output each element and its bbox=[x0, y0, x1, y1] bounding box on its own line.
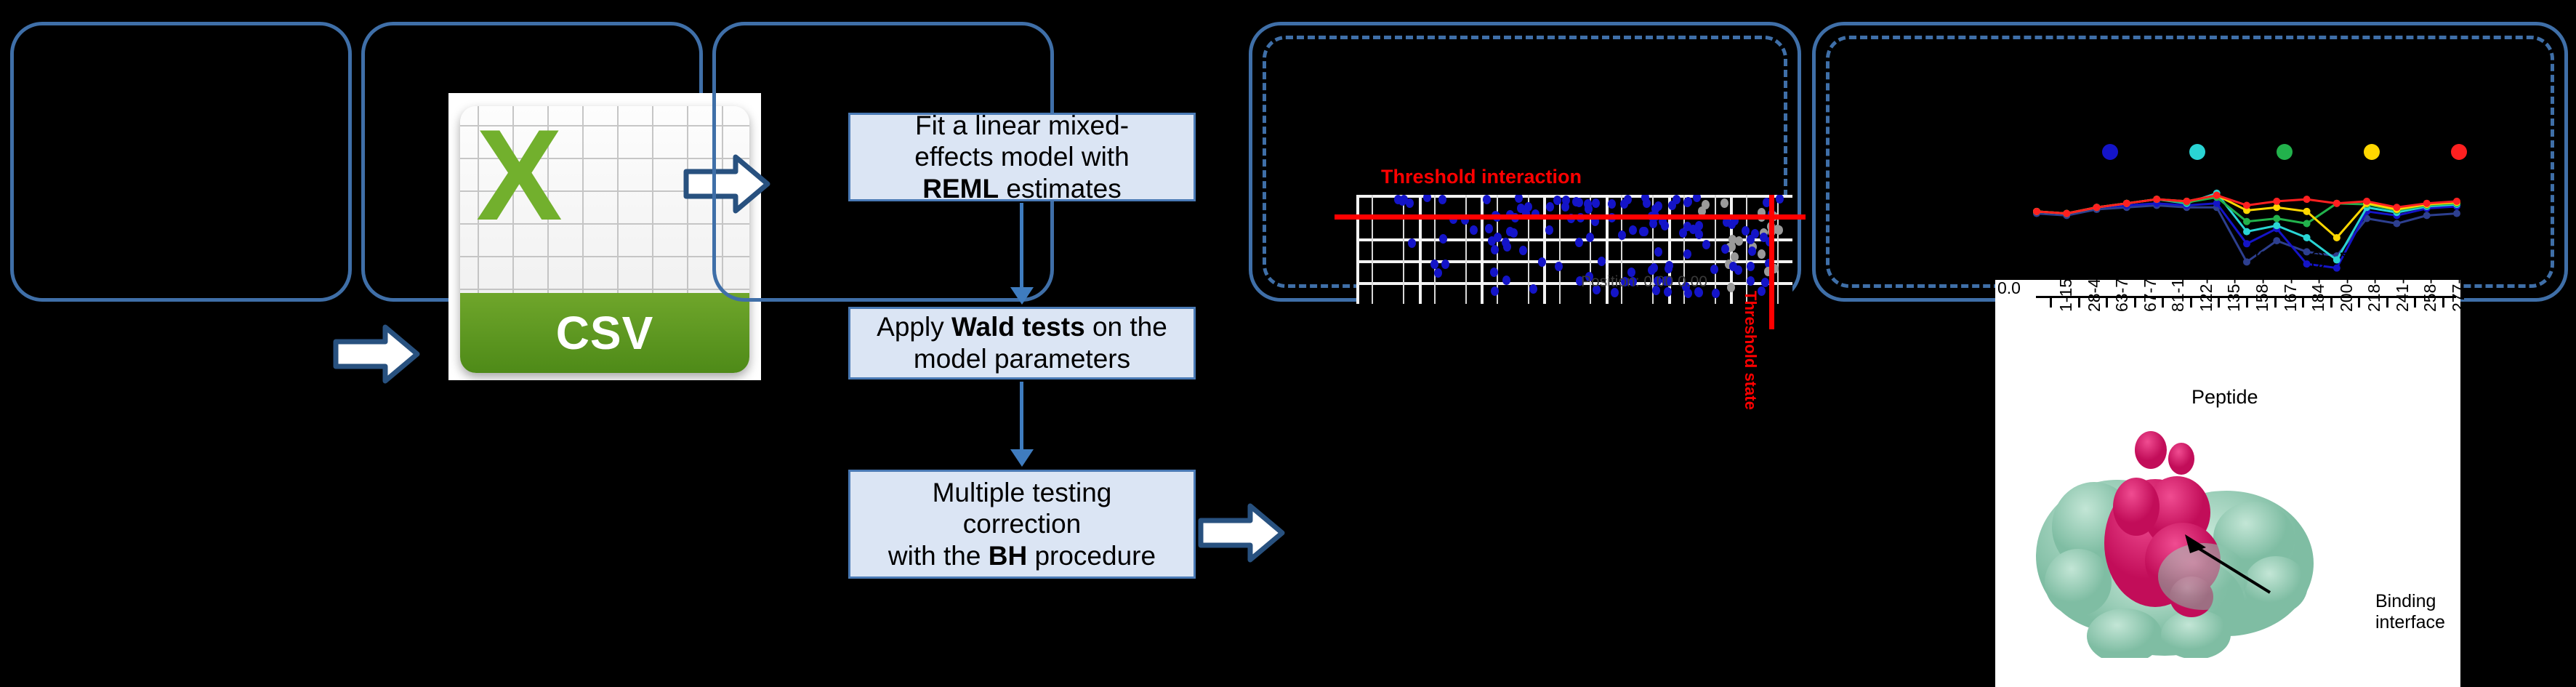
line-marker bbox=[2153, 196, 2160, 203]
line-marker bbox=[2273, 198, 2280, 205]
peptide-tick-label: 28-44 bbox=[2085, 269, 2104, 312]
line-marker bbox=[2423, 212, 2431, 219]
legend-dot-4 bbox=[2451, 144, 2467, 160]
connector-arrow-reml-to-wald bbox=[1020, 203, 1023, 289]
scatter-point bbox=[1643, 198, 1651, 208]
scatter-point bbox=[1695, 221, 1703, 230]
flow-arrow-3 bbox=[1198, 500, 1285, 566]
peptide-tick bbox=[2358, 296, 2360, 308]
peptide-tick bbox=[2302, 296, 2304, 308]
binding-line-2: interface bbox=[2375, 612, 2445, 633]
scatter-tick-v bbox=[1559, 195, 1561, 304]
threshold-state-line bbox=[1769, 195, 1774, 329]
peptide-tick-label: 241-257 bbox=[2393, 251, 2412, 312]
scatter-point bbox=[1665, 261, 1673, 270]
scatter-point bbox=[1654, 201, 1662, 211]
line-marker bbox=[2183, 198, 2190, 205]
scatter-point bbox=[1483, 195, 1491, 204]
scatter-point bbox=[1439, 234, 1447, 244]
scatter-point bbox=[1776, 195, 1784, 204]
scatter-tick-v bbox=[1746, 195, 1747, 304]
peptide-tick bbox=[2386, 296, 2388, 308]
scatter-point bbox=[1491, 245, 1499, 254]
peptide-axis-title: Peptide bbox=[2191, 386, 2258, 409]
scatter-point bbox=[1575, 198, 1583, 207]
scatter-point bbox=[1742, 226, 1750, 236]
scatter-point bbox=[1608, 199, 1616, 209]
scatter-point bbox=[1515, 195, 1523, 203]
scatter-point bbox=[1710, 265, 1718, 274]
scatter-point bbox=[1758, 249, 1766, 259]
scatter-point bbox=[1624, 195, 1632, 204]
line-marker bbox=[2303, 208, 2311, 215]
peptide-tick-label: 67-75 bbox=[2141, 269, 2160, 312]
peptide-tick-label: 158-166 bbox=[2253, 251, 2272, 312]
scatter-point bbox=[1441, 260, 1449, 269]
scatter-point bbox=[1434, 268, 1442, 278]
peptide-tick bbox=[2050, 296, 2052, 308]
peptide-tick-label: 135-144 bbox=[2224, 251, 2244, 312]
threshold-interaction-line bbox=[1335, 214, 1806, 220]
peptide-tick bbox=[2330, 296, 2333, 308]
line-marker bbox=[2393, 220, 2400, 228]
line-marker bbox=[2273, 237, 2280, 244]
scatter-faint-axis-text: Position: 0.00 0.00 bbox=[1581, 273, 1707, 291]
scatter-point bbox=[1721, 244, 1729, 254]
line-marker bbox=[2453, 210, 2460, 217]
scatter-point bbox=[1641, 227, 1649, 236]
scatter-point bbox=[1470, 225, 1478, 235]
peptide-tick-label: 200-214 bbox=[2337, 251, 2356, 312]
line-marker bbox=[2243, 218, 2250, 225]
wald-keyword: Wald tests bbox=[951, 312, 1085, 342]
line-marker bbox=[2243, 201, 2250, 209]
scatter-plot-area bbox=[1356, 195, 1792, 304]
peptide-tick bbox=[2106, 296, 2108, 308]
scatter-point bbox=[1430, 260, 1438, 269]
diagram-stage: X CSV Fit a linear mixed- effects model … bbox=[0, 0, 2576, 687]
scatter-point bbox=[1748, 246, 1756, 256]
line-marker bbox=[2273, 215, 2280, 222]
reml-line-3: estimates bbox=[999, 174, 1122, 204]
line-marker bbox=[2453, 198, 2460, 205]
peptide-tick bbox=[2078, 296, 2080, 308]
scatter-point bbox=[1747, 262, 1755, 271]
line-marker bbox=[2423, 200, 2431, 207]
line-marker bbox=[2273, 222, 2280, 229]
scatter-tick-v bbox=[1465, 195, 1467, 304]
connector-arrow-wald-to-bh bbox=[1020, 382, 1023, 451]
scatter-point bbox=[1584, 199, 1592, 209]
scatter-point bbox=[1519, 246, 1527, 255]
legend-dot-2 bbox=[2277, 144, 2293, 160]
line-marker bbox=[2243, 228, 2250, 236]
scatter-point bbox=[1702, 200, 1710, 209]
scatter-point bbox=[1408, 238, 1416, 248]
threshold-state-label: Threshold state bbox=[1741, 291, 1760, 410]
scatter-tick-v bbox=[1434, 195, 1436, 304]
reml-line-2: effects model with bbox=[914, 142, 1129, 172]
scatter-point bbox=[1398, 196, 1406, 206]
line-marker bbox=[2123, 200, 2130, 207]
peptide-tick-label: 63-73 bbox=[2112, 269, 2132, 312]
peptide-tick bbox=[2414, 296, 2416, 308]
line-marker bbox=[2303, 196, 2311, 203]
bh-keyword: BH bbox=[989, 541, 1027, 571]
scatter-point bbox=[1592, 198, 1600, 208]
line-marker bbox=[2363, 198, 2370, 205]
step-box-bh: Multiple testing correction with the BH … bbox=[848, 470, 1196, 579]
line-marker bbox=[2243, 240, 2250, 247]
scatter-point bbox=[1546, 202, 1554, 212]
legend-dot-3 bbox=[2364, 144, 2380, 160]
peptide-tick bbox=[2134, 296, 2136, 308]
line-marker bbox=[2093, 204, 2101, 211]
scatter-point bbox=[1553, 196, 1561, 205]
bh-post: procedure bbox=[1027, 541, 1156, 571]
peptide-tick bbox=[2218, 296, 2220, 308]
peptide-tick-label: 184-199 bbox=[2309, 251, 2328, 312]
bh-line-2: correction bbox=[963, 509, 1081, 539]
line-marker bbox=[2243, 258, 2250, 265]
step-box-reml: Fit a linear mixed- effects model with R… bbox=[848, 113, 1196, 201]
scatter-tick-v bbox=[1372, 195, 1373, 304]
panel-input bbox=[10, 22, 352, 302]
scatter-point bbox=[1503, 242, 1511, 252]
scatter-point bbox=[1575, 238, 1583, 247]
scatter-point bbox=[1586, 233, 1594, 242]
scatter-point bbox=[1494, 233, 1502, 242]
line-marker bbox=[2033, 208, 2040, 215]
flow-arrow-1 bbox=[333, 321, 420, 387]
scatter-point bbox=[1702, 240, 1710, 249]
line-marker bbox=[2303, 234, 2311, 241]
scatter-point bbox=[1555, 262, 1563, 271]
scatter-point bbox=[1684, 197, 1692, 206]
peptide-tick-label: 81-101 bbox=[2168, 260, 2188, 312]
scatter-tick-v bbox=[1403, 195, 1404, 304]
scatter-point bbox=[1735, 236, 1743, 246]
bh-line-1: Multiple testing bbox=[933, 478, 1112, 507]
reml-keyword: REML bbox=[922, 174, 999, 204]
scatter-gridline-v bbox=[1419, 195, 1422, 304]
peptide-tick bbox=[2162, 296, 2164, 308]
scatter-point bbox=[1529, 284, 1537, 294]
peptide-tick-label: 218-237 bbox=[2364, 251, 2384, 312]
binding-line-1: Binding bbox=[2375, 591, 2445, 612]
scatter-point bbox=[1538, 257, 1546, 267]
scatter-title: Threshold interaction bbox=[1381, 166, 1582, 188]
scatter-point bbox=[1729, 262, 1737, 271]
peptide-axis-card: 0.0 1-1528-4463-7367-7581-101122-129135-… bbox=[1995, 280, 2460, 687]
line-marker bbox=[2213, 192, 2221, 199]
scatter-point bbox=[1438, 195, 1446, 204]
peptide-tick-label: 122-129 bbox=[2197, 251, 2216, 312]
scatter-gridline-v bbox=[1481, 195, 1484, 304]
peptide-tick-label: 167-180 bbox=[2281, 251, 2301, 312]
y-axis-tick-label: 0.0 bbox=[1997, 278, 2021, 298]
scatter-point bbox=[1485, 224, 1493, 233]
scatter-gridline-v bbox=[1543, 195, 1546, 304]
line-marker bbox=[2393, 204, 2400, 211]
line-marker bbox=[2333, 234, 2340, 241]
peptide-tick bbox=[2190, 296, 2192, 308]
peptide-tick bbox=[2246, 296, 2248, 308]
scatter-point bbox=[1490, 268, 1498, 277]
step-box-wald: Apply Wald tests on the model parameters bbox=[848, 307, 1196, 379]
legend-dot-0 bbox=[2102, 144, 2118, 160]
scatter-point bbox=[1727, 283, 1735, 292]
scatter-point bbox=[1598, 257, 1606, 266]
csv-icon-label: CSV bbox=[556, 306, 654, 360]
scatter-point bbox=[1693, 195, 1701, 202]
scatter-point bbox=[1683, 249, 1691, 259]
line-marker bbox=[2303, 220, 2311, 228]
excel-x-icon: X bbox=[476, 111, 563, 240]
bh-pre: with the bbox=[888, 541, 989, 571]
peptide-tick bbox=[2442, 296, 2444, 308]
line-marker bbox=[2333, 200, 2340, 207]
scatter-point bbox=[1720, 198, 1728, 208]
scatter-point bbox=[1679, 228, 1687, 238]
reml-line-1: Fit a linear mixed- bbox=[915, 111, 1129, 140]
scatter-point bbox=[1668, 201, 1676, 210]
scatter-point bbox=[1562, 196, 1570, 205]
peptide-tick bbox=[2274, 296, 2277, 308]
scatter-point bbox=[1712, 289, 1720, 298]
protein-surface-image bbox=[2008, 418, 2386, 658]
scatter-gridline-h bbox=[1356, 238, 1792, 241]
peptide-tick-label: 1-15 bbox=[2056, 278, 2076, 312]
scatter-point bbox=[1654, 247, 1662, 257]
scatter-point bbox=[1775, 225, 1783, 235]
scatter-point bbox=[1545, 225, 1553, 235]
scatter-tick-v bbox=[1715, 195, 1716, 304]
scatter-point bbox=[1629, 225, 1637, 235]
wald-pre: Apply bbox=[877, 312, 951, 342]
legend-dot-1 bbox=[2189, 144, 2205, 160]
scatter-point bbox=[1423, 195, 1431, 202]
scatter-point bbox=[1747, 276, 1755, 286]
line-marker bbox=[2063, 210, 2070, 217]
binding-interface-annotation: Binding interface bbox=[2375, 591, 2445, 633]
peptide-tick-label: 258-266 bbox=[2420, 251, 2440, 312]
scatter-gridline-v bbox=[1356, 195, 1359, 304]
scatter-tick-v bbox=[1777, 195, 1779, 304]
scatter-point bbox=[1761, 278, 1769, 287]
peptide-tick-label: 277-284 bbox=[2449, 251, 2468, 312]
scatter-point bbox=[1760, 233, 1768, 242]
